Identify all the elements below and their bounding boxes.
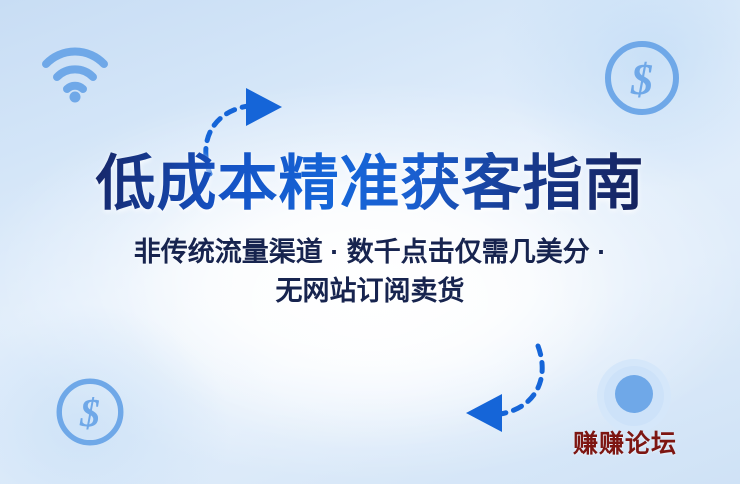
dollar-circle-icon: $ [600,36,684,125]
subtitle: 非传统流量渠道 · 数千点击仅需几美分 · 无网站订阅卖货 [50,233,690,311]
wifi-icon [38,42,112,109]
subtitle-line-2: 无网站订阅卖货 [50,272,690,311]
watermark: 赚赚论坛 [573,424,677,460]
subtitle-line-1: 非传统流量渠道 · 数千点击仅需几美分 · [50,233,690,272]
bottom-left-glow [0,304,230,484]
curved-arrow-left-icon [448,342,558,439]
dollar-circle-icon: $ [52,374,128,455]
promo-banner: $ $ 低成本精准获客指南 [0,0,740,484]
svg-text:$: $ [630,55,653,104]
svg-text:$: $ [79,391,100,435]
page-title: 低成本精准获客指南 [0,152,740,217]
headline-block: 低成本精准获客指南 非传统流量渠道 · 数千点击仅需几美分 · 无网站订阅卖货 [0,152,740,311]
